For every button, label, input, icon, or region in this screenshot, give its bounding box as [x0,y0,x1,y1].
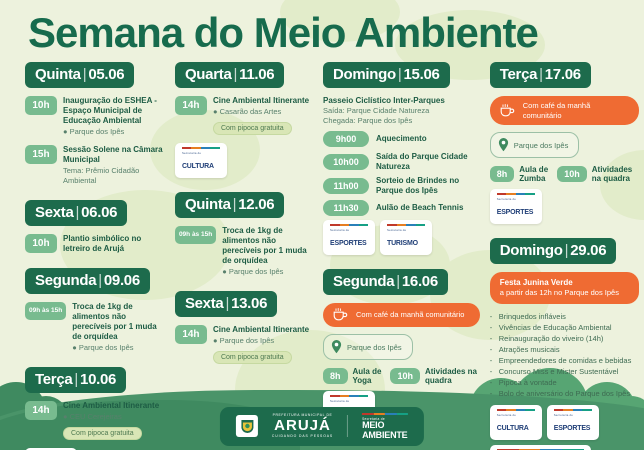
activity-label: Aula de Zumba [519,165,551,183]
schedule-label: Saída do Parque Cidade Natureza [376,152,480,171]
logo-prefix: Secretaria de [497,197,535,201]
place-text: Parque dos Ipês [514,141,569,150]
logo-turismo: Secretaria de TURISMO [380,220,432,255]
logo-name: CULTURA [497,425,529,432]
place-text: Parque dos Ipês [347,343,402,352]
list-item: Brinquedos infláveis [490,311,639,322]
column-4: Terça|17.06 Com café da manhã comunitári… [485,62,644,450]
schedule-time: 10h00 [323,154,369,170]
event-time-badge: 15h [25,145,57,164]
day-name: Quarta [185,66,232,83]
event-tag: Com pipoca gratuita [63,427,142,440]
logo-color-bars [497,193,535,195]
logo-esportes: Secretaria de ESPORTES [490,189,542,224]
ride-heading: Passeio Ciclístico Inter-Parques [323,96,480,106]
logo-name: CULTURA [182,163,214,170]
event-item: 10h Plantio simbólico no letreiro de Aru… [25,234,165,254]
event-place: ●︎ Parque dos Ipês [213,336,313,346]
list-item: Vivências de Educação Ambiental [490,322,639,333]
day-pill: Terça|17.06 [490,62,591,88]
festa-attractions-list: Brinquedos infláveis Vivências de Educaç… [490,311,639,399]
logo-esportes: Secretaria de ESPORTES [547,405,599,440]
day-name: Terça [500,66,537,83]
logo-color-bars [362,413,408,415]
event-place: ●︎ Parque dos Ipês [222,267,313,277]
logo-prefix: Secretaria de [497,413,535,417]
logo-prefix: Secretaria de [554,413,592,417]
event-time-badge: 14h [175,325,207,344]
event-time-badge: 14h [25,401,57,420]
day-name: Domingo [333,66,396,83]
event-title: Cine Ambiental Itinerante [213,96,313,106]
page-title: Semana do Meio Ambiente [28,10,628,56]
logo-name: TURISMO [387,240,418,247]
event-item: 09h às 15h Troca de 1kg de alimentos não… [25,302,165,353]
logo-color-bars [330,224,368,226]
day-name: Quinta [185,196,231,213]
event-time-badge: 09h às 15h [175,226,216,244]
place-box: Parque dos Ipês [323,334,413,360]
activity-item: 10h Atividades na quadra [390,367,479,385]
day-pill: Sexta|06.06 [25,200,127,226]
activity-time: 10h [557,166,587,182]
day-name: Segunda [333,273,394,290]
logo-prefix: Secretaria de [182,151,220,155]
event-time-badge: 09h às 15h [25,302,66,320]
day-pill: Segunda|09.06 [25,268,150,294]
column-1: Quinta|05.06 10h Inauguração do ESHEA - … [20,62,170,450]
day-block-terca-10-06: Terça|10.06 14h Cine Ambiental Itinerant… [25,367,165,450]
schedule-grid: Quinta|05.06 10h Inauguração do ESHEA - … [0,62,644,450]
festa-banner: Festa Junina Verde a partir das 12h no P… [490,272,639,304]
ride-finish: Chegada: Parque dos Ipês [323,116,480,126]
activity-label: Atividades na quadra [592,165,639,183]
partner-logos: Secretaria de CULTURA [175,143,313,178]
activity-time: 8h [490,166,515,182]
festa-title: Festa Junina Verde [500,278,629,288]
event-title: Cine Ambiental Itinerante [63,401,165,411]
day-name: Segunda [35,272,96,289]
list-item: Empreendedores de comidas e bebidas [490,355,639,366]
column-2: Quarta|11.06 14h Cine Ambiental Itineran… [170,62,318,450]
list-item: Reinauguração do viveiro (14h) [490,333,639,344]
coffee-text: Com café da manhã comunitário [356,310,464,320]
day-date: 12.06 [238,196,274,213]
day-date: 17.06 [545,66,581,83]
coffee-cup-icon [333,308,349,322]
event-item: 14h Cine Ambiental Itinerante ●︎ Parque … [175,325,313,364]
day-date: 09.06 [104,272,140,289]
partner-logos: Secretaria de CULTURA Secretaria de ESPO… [490,405,639,450]
day-pill: Quarta|11.06 [175,62,284,88]
event-item: 15h Sessão Solene na Câmara Municipal Te… [25,145,165,186]
day-name: Domingo [500,242,563,259]
day-date: 29.06 [570,242,606,259]
activity-item: 8h Aula de Yoga [323,367,384,385]
day-name: Sexta [185,295,224,312]
poster-root: Semana do Meio Ambiente Quinta|05.06 10h… [0,0,644,450]
activity-time: 8h [323,368,348,384]
schedule-time: 9h00 [323,131,369,147]
activity-time: 10h [390,368,420,384]
meio-line2: AMBIENTE [362,431,408,441]
day-date: 05.06 [88,66,124,83]
event-place: ●︎ CEU Cerejeiras [63,412,165,422]
day-block-segunda-16-06: Segunda|16.06 Com café da manhã comunitá… [323,269,480,426]
logo-desenvolvimento-economico: Secretaria de DESENVOLVIMENTO ECONÔMICO [490,445,591,450]
footer-logo-bar: PREFEITURA MUNICIPAL DE ARUJÁ CUIDANDO D… [220,407,424,447]
logo-name: ESPORTES [554,425,591,432]
day-pill: Quinta|05.06 [25,62,134,88]
coffee-text: Com café da manhã comunitário [523,101,629,120]
day-pill: Domingo|15.06 [323,62,450,88]
day-date: 13.06 [231,295,267,312]
event-title: Troca de 1kg de alimentos não perecíveis… [72,302,165,342]
event-title: Sessão Solene na Câmara Municipal [63,145,165,165]
event-place: ●︎ Casarão das Artes [213,107,313,117]
schedule-label: Aulão de Beach Tennis [376,203,463,213]
list-item: Concurso Miss e Mister Sustentável [490,366,639,377]
event-title: Cine Ambiental Itinerante [213,325,313,335]
place-box: Parque dos Ipês [490,132,580,158]
logo-color-bars [554,409,592,411]
aruja-name: ARUJÁ [272,418,333,434]
event-tag: Com pipoca gratuita [213,122,292,135]
logo-name: ESPORTES [330,240,367,247]
day-name: Terça [35,371,72,388]
event-item: 14h Cine Ambiental Itinerante ●︎ CEU Cer… [25,401,165,440]
event-time-badge: 10h [25,96,57,115]
list-item: Atrações musicais [490,344,639,355]
logo-prefix: Secretaria de [330,399,368,403]
schedule-label: Aquecimento [376,134,427,144]
aruja-crest-icon [236,415,258,437]
logo-color-bars [330,395,368,397]
event-item: 10h Inauguração do ESHEA - Espaço Munici… [25,96,165,137]
schedule-label: Sorteio de Brindes no Parque dos Ipês [376,176,480,195]
logo-cultura: Secretaria de CULTURA [490,405,542,440]
activities-row: 8h Aula de Zumba 10h Atividades na quadr… [490,165,639,183]
day-name: Quinta [35,66,81,83]
partner-logos: Secretaria de ESPORTES Secretaria de TUR… [323,220,480,255]
day-block-quarta-11-06: Quarta|11.06 14h Cine Ambiental Itineran… [175,62,313,178]
day-pill: Domingo|29.06 [490,238,617,264]
column-3: Domingo|15.06 Passeio Ciclístico Inter-P… [318,62,485,450]
event-subtitle: Tema: Prêmio Cidadão Ambiental [63,166,165,186]
day-block-domingo-15-06: Domingo|15.06 Passeio Ciclístico Inter-P… [323,62,480,255]
activity-item: 10h Atividades na quadra [557,165,639,183]
day-block-quinta-05-06: Quinta|05.06 10h Inauguração do ESHEA - … [25,62,165,186]
ride-start: Saída: Parque Cidade Natureza [323,106,480,116]
festa-subtitle: a partir das 12h no Parque dos Ipês [500,288,629,298]
list-item: Bolo de aniversário do Parque dos Ipês [490,388,639,399]
event-time-badge: 10h [25,234,57,253]
day-date: 16.06 [402,273,438,290]
event-item: 14h Cine Ambiental Itinerante ●︎ Casarão… [175,96,313,135]
day-date: 15.06 [404,66,440,83]
day-block-quinta-12-06: Quinta|12.06 09h às 15h Troca de 1kg de … [175,192,313,277]
day-block-sexta-06-06: Sexta|06.06 10h Plantio simbólico no let… [25,200,165,254]
schedule-row: 9h00 Aquecimento [323,131,480,147]
day-date: 10.06 [80,371,116,388]
event-title: Inauguração do ESHEA - Espaço Municipal … [63,96,165,126]
coat-of-arms-icon [238,418,255,435]
aruja-wordmark: PREFEITURA MUNICIPAL DE ARUJÁ CUIDANDO D… [272,413,333,439]
logo-color-bars [387,224,425,226]
schedule-row: 11h30 Aulão de Beach Tennis [323,200,480,216]
day-pill: Sexta|13.06 [175,291,277,317]
map-pin-icon [497,137,510,153]
activity-item: 8h Aula de Zumba [490,165,552,183]
event-title: Plantio simbólico no letreiro de Arujá [63,234,165,254]
event-tag: Com pipoca gratuita [213,351,292,364]
logo-prefix: Secretaria de [387,228,425,232]
coffee-cup-icon [500,104,516,118]
logo-color-bars [497,409,535,411]
schedule-row: 10h00 Saída do Parque Cidade Natureza [323,152,480,171]
meio-ambiente-wordmark: Secretaria de MEIO AMBIENTE [362,413,408,441]
schedule-time: 11h30 [323,200,369,216]
day-pill: Quinta|12.06 [175,192,284,218]
activity-label: Atividades na quadra [425,367,480,385]
event-time-badge: 14h [175,96,207,115]
day-block-sexta-13-06: Sexta|13.06 14h Cine Ambiental Itinerant… [175,291,313,364]
logo-prefix: Secretaria de [330,228,368,232]
logo-cultura: Secretaria de CULTURA [175,143,227,178]
list-item: Pipoca à vontade [490,377,639,388]
logo-color-bars [182,147,220,149]
event-item: 09h às 15h Troca de 1kg de alimentos não… [175,226,313,277]
event-place: ●︎ Parque dos Ipês [63,127,165,137]
footer-divider [347,415,348,437]
logo-esportes: Secretaria de ESPORTES [323,220,375,255]
day-name: Sexta [35,204,74,221]
coffee-banner: Com café da manhã comunitário [490,96,639,125]
schedule-row: 11h00 Sorteio de Brindes no Parque dos I… [323,176,480,195]
day-pill: Segunda|16.06 [323,269,448,295]
day-block-domingo-29-06: Domingo|29.06 Festa Junina Verde a parti… [490,238,639,450]
day-date: 06.06 [81,204,117,221]
partner-logos: Secretaria de ESPORTES [490,189,639,224]
logo-name: ESPORTES [497,209,534,216]
coffee-banner: Com café da manhã comunitário [323,303,480,327]
day-block-terca-17-06: Terça|17.06 Com café da manhã comunitári… [490,62,639,224]
aruja-slogan: CUIDANDO DAS PESSOAS [272,434,333,439]
schedule-time: 11h00 [323,178,369,194]
event-place: ●︎ Parque dos Ipês [72,343,165,353]
day-date: 11.06 [239,66,274,83]
activity-label: Aula de Yoga [353,367,385,385]
event-title: Troca de 1kg de alimentos não perecíveis… [222,226,313,266]
day-block-segunda-09-06: Segunda|09.06 09h às 15h Troca de 1kg de… [25,268,165,353]
day-pill: Terça|10.06 [25,367,126,393]
map-pin-icon [330,339,343,355]
activities-row: 8h Aula de Yoga 10h Atividades na quadra [323,367,480,385]
